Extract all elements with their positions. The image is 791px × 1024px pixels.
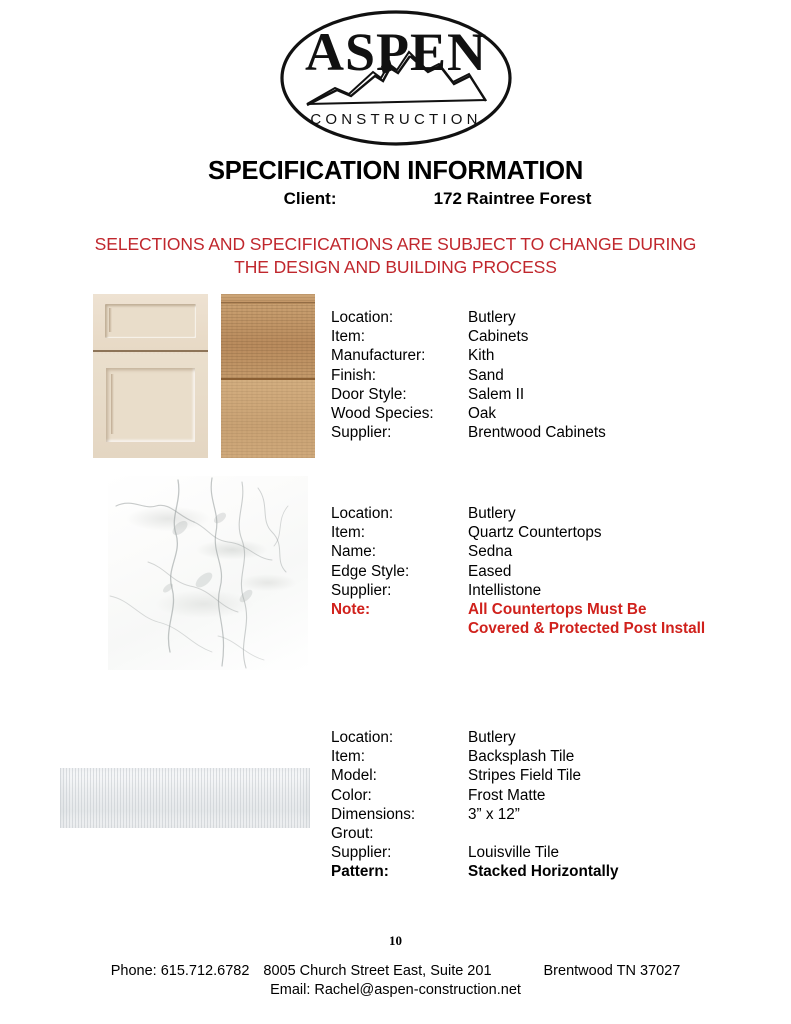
footer-line-1: Phone: 615.712.67828005 Church Street Ea… (0, 962, 791, 981)
quartz-slab-sample-image (108, 476, 308, 670)
wood-band-middle (221, 304, 315, 380)
spec-label: Item: (331, 747, 468, 766)
spec-value-note: All Countertops Must Be (468, 600, 646, 619)
spec-row: Color:Frost Matte (331, 786, 618, 805)
specification-page: ASPEN CONSTRUCTION SPECIFICATION INFORMA… (0, 0, 791, 1024)
spec-value: Cabinets (468, 327, 528, 346)
cabinet-drawer-front (93, 294, 208, 352)
spec-label-note: Note: (331, 600, 468, 619)
cabinet-door-inset-panel (106, 368, 195, 442)
spec-label: Supplier: (331, 423, 468, 442)
spec-value: Oak (468, 404, 496, 423)
client-row: Client:172 Raintree Forest (0, 190, 791, 209)
spec-row: Door Style:Salem II (331, 385, 606, 404)
disclaimer-line-2: THE DESIGN AND BUILDING PROCESS (60, 256, 731, 279)
spec-label: Color: (331, 786, 468, 805)
cabinet-door-sample-image (93, 294, 208, 458)
spec-value: Sedna (468, 542, 512, 561)
spec-row: Supplier:Brentwood Cabinets (331, 423, 606, 442)
spec-label: Grout: (331, 824, 468, 843)
spec-value: Louisville Tile (468, 843, 559, 862)
spec-label: Location: (331, 308, 468, 327)
spec-value: Frost Matte (468, 786, 545, 805)
page-number: 10 (0, 933, 791, 949)
client-value: 172 Raintree Forest (434, 190, 592, 209)
footer-phone: Phone: 615.712.6782 (111, 962, 250, 981)
spec-row-note-continuation: Covered & Protected Post Install (331, 619, 705, 638)
disclaimer-text: SELECTIONS AND SPECIFICATIONS ARE SUBJEC… (60, 233, 731, 280)
spec-row: Edge Style:Eased (331, 562, 705, 581)
spec-label: Item: (331, 523, 468, 542)
spec-row: Manufacturer:Kith (331, 346, 606, 365)
footer-city-state-zip: Brentwood TN 37027 (544, 962, 681, 981)
spec-label: Item: (331, 327, 468, 346)
spec-block-tile: Location:Butlery Item:Backsplash Tile Mo… (331, 728, 618, 882)
spec-value: Butlery (468, 504, 516, 523)
spec-label: Door Style: (331, 385, 468, 404)
svg-text:CONSTRUCTION: CONSTRUCTION (310, 111, 481, 128)
logo-container: ASPEN CONSTRUCTION (0, 8, 791, 148)
disclaimer-line-1: SELECTIONS AND SPECIFICATIONS ARE SUBJEC… (60, 233, 731, 256)
spec-value-pattern: Stacked Horizontally (468, 862, 618, 881)
cabinet-wood-sample-image (221, 294, 315, 458)
spec-value: Intellistone (468, 581, 541, 600)
page-title: SPECIFICATION INFORMATION (0, 158, 791, 185)
spec-label: Supplier: (331, 843, 468, 862)
cabinet-door-front (93, 354, 208, 458)
spec-row: Finish:Sand (331, 366, 606, 385)
spec-value: Salem II (468, 385, 524, 404)
spec-row: Wood Species:Oak (331, 404, 606, 423)
wood-seam-line (221, 302, 315, 303)
spec-value: Brentwood Cabinets (468, 423, 606, 442)
footer: Phone: 615.712.67828005 Church Street Ea… (0, 962, 791, 1000)
spec-value: Stripes Field Tile (468, 766, 581, 785)
spec-value: Butlery (468, 308, 516, 327)
spec-label: Name: (331, 542, 468, 561)
spec-value: 3” x 12” (468, 805, 520, 824)
spec-block-cabinets: Location:Butlery Item:Cabinets Manufactu… (331, 308, 606, 442)
spec-label: Dimensions: (331, 805, 468, 824)
spec-value: Backsplash Tile (468, 747, 574, 766)
spec-label-pattern: Pattern: (331, 862, 468, 881)
spec-row: Supplier:Louisville Tile (331, 843, 618, 862)
spec-label: Edge Style: (331, 562, 468, 581)
spec-value: Butlery (468, 728, 516, 747)
spec-label: Location: (331, 728, 468, 747)
spec-row-note: Note:All Countertops Must Be (331, 600, 705, 619)
footer-email: Email: Rachel@aspen-construction.net (270, 982, 521, 998)
spec-row: Location:Butlery (331, 504, 705, 523)
spec-value: Eased (468, 562, 511, 581)
wood-band-bottom (221, 380, 315, 458)
spec-row: Name:Sedna (331, 542, 705, 561)
cabinet-drawer-inset-panel (105, 304, 196, 338)
spec-row: Location:Butlery (331, 728, 618, 747)
spec-row: Item:Backsplash Tile (331, 747, 618, 766)
spec-row: Grout: (331, 824, 618, 843)
spec-value: Quartz Countertops (468, 523, 602, 542)
spec-row: Model:Stripes Field Tile (331, 766, 618, 785)
spec-label: Wood Species: (331, 404, 468, 423)
spec-block-countertop: Location:Butlery Item:Quartz Countertops… (331, 504, 705, 638)
footer-line-2: Email: Rachel@aspen-construction.net (0, 981, 791, 1000)
spec-row-pattern: Pattern:Stacked Horizontally (331, 862, 618, 881)
spec-row: Dimensions:3” x 12” (331, 805, 618, 824)
spec-label: Location: (331, 504, 468, 523)
spec-row: Supplier:Intellistone (331, 581, 705, 600)
svg-text:ASPEN: ASPEN (304, 22, 486, 82)
spec-label: Manufacturer: (331, 346, 468, 365)
spec-label: Finish: (331, 366, 468, 385)
note-continuation-text: Covered & Protected Post Install (468, 619, 705, 638)
spec-row: Item:Cabinets (331, 327, 606, 346)
spec-row: Location:Butlery (331, 308, 606, 327)
footer-address: 8005 Church Street East, Suite 201 (263, 962, 491, 981)
client-label: Client: (284, 190, 434, 209)
spec-row: Item:Quartz Countertops (331, 523, 705, 542)
aspen-construction-logo-icon: ASPEN CONSTRUCTION (277, 8, 515, 148)
spec-label: Model: (331, 766, 468, 785)
backsplash-tile-sample-image (60, 768, 310, 828)
spec-label: Supplier: (331, 581, 468, 600)
spec-value: Kith (468, 346, 494, 365)
spec-value: Sand (468, 366, 504, 385)
